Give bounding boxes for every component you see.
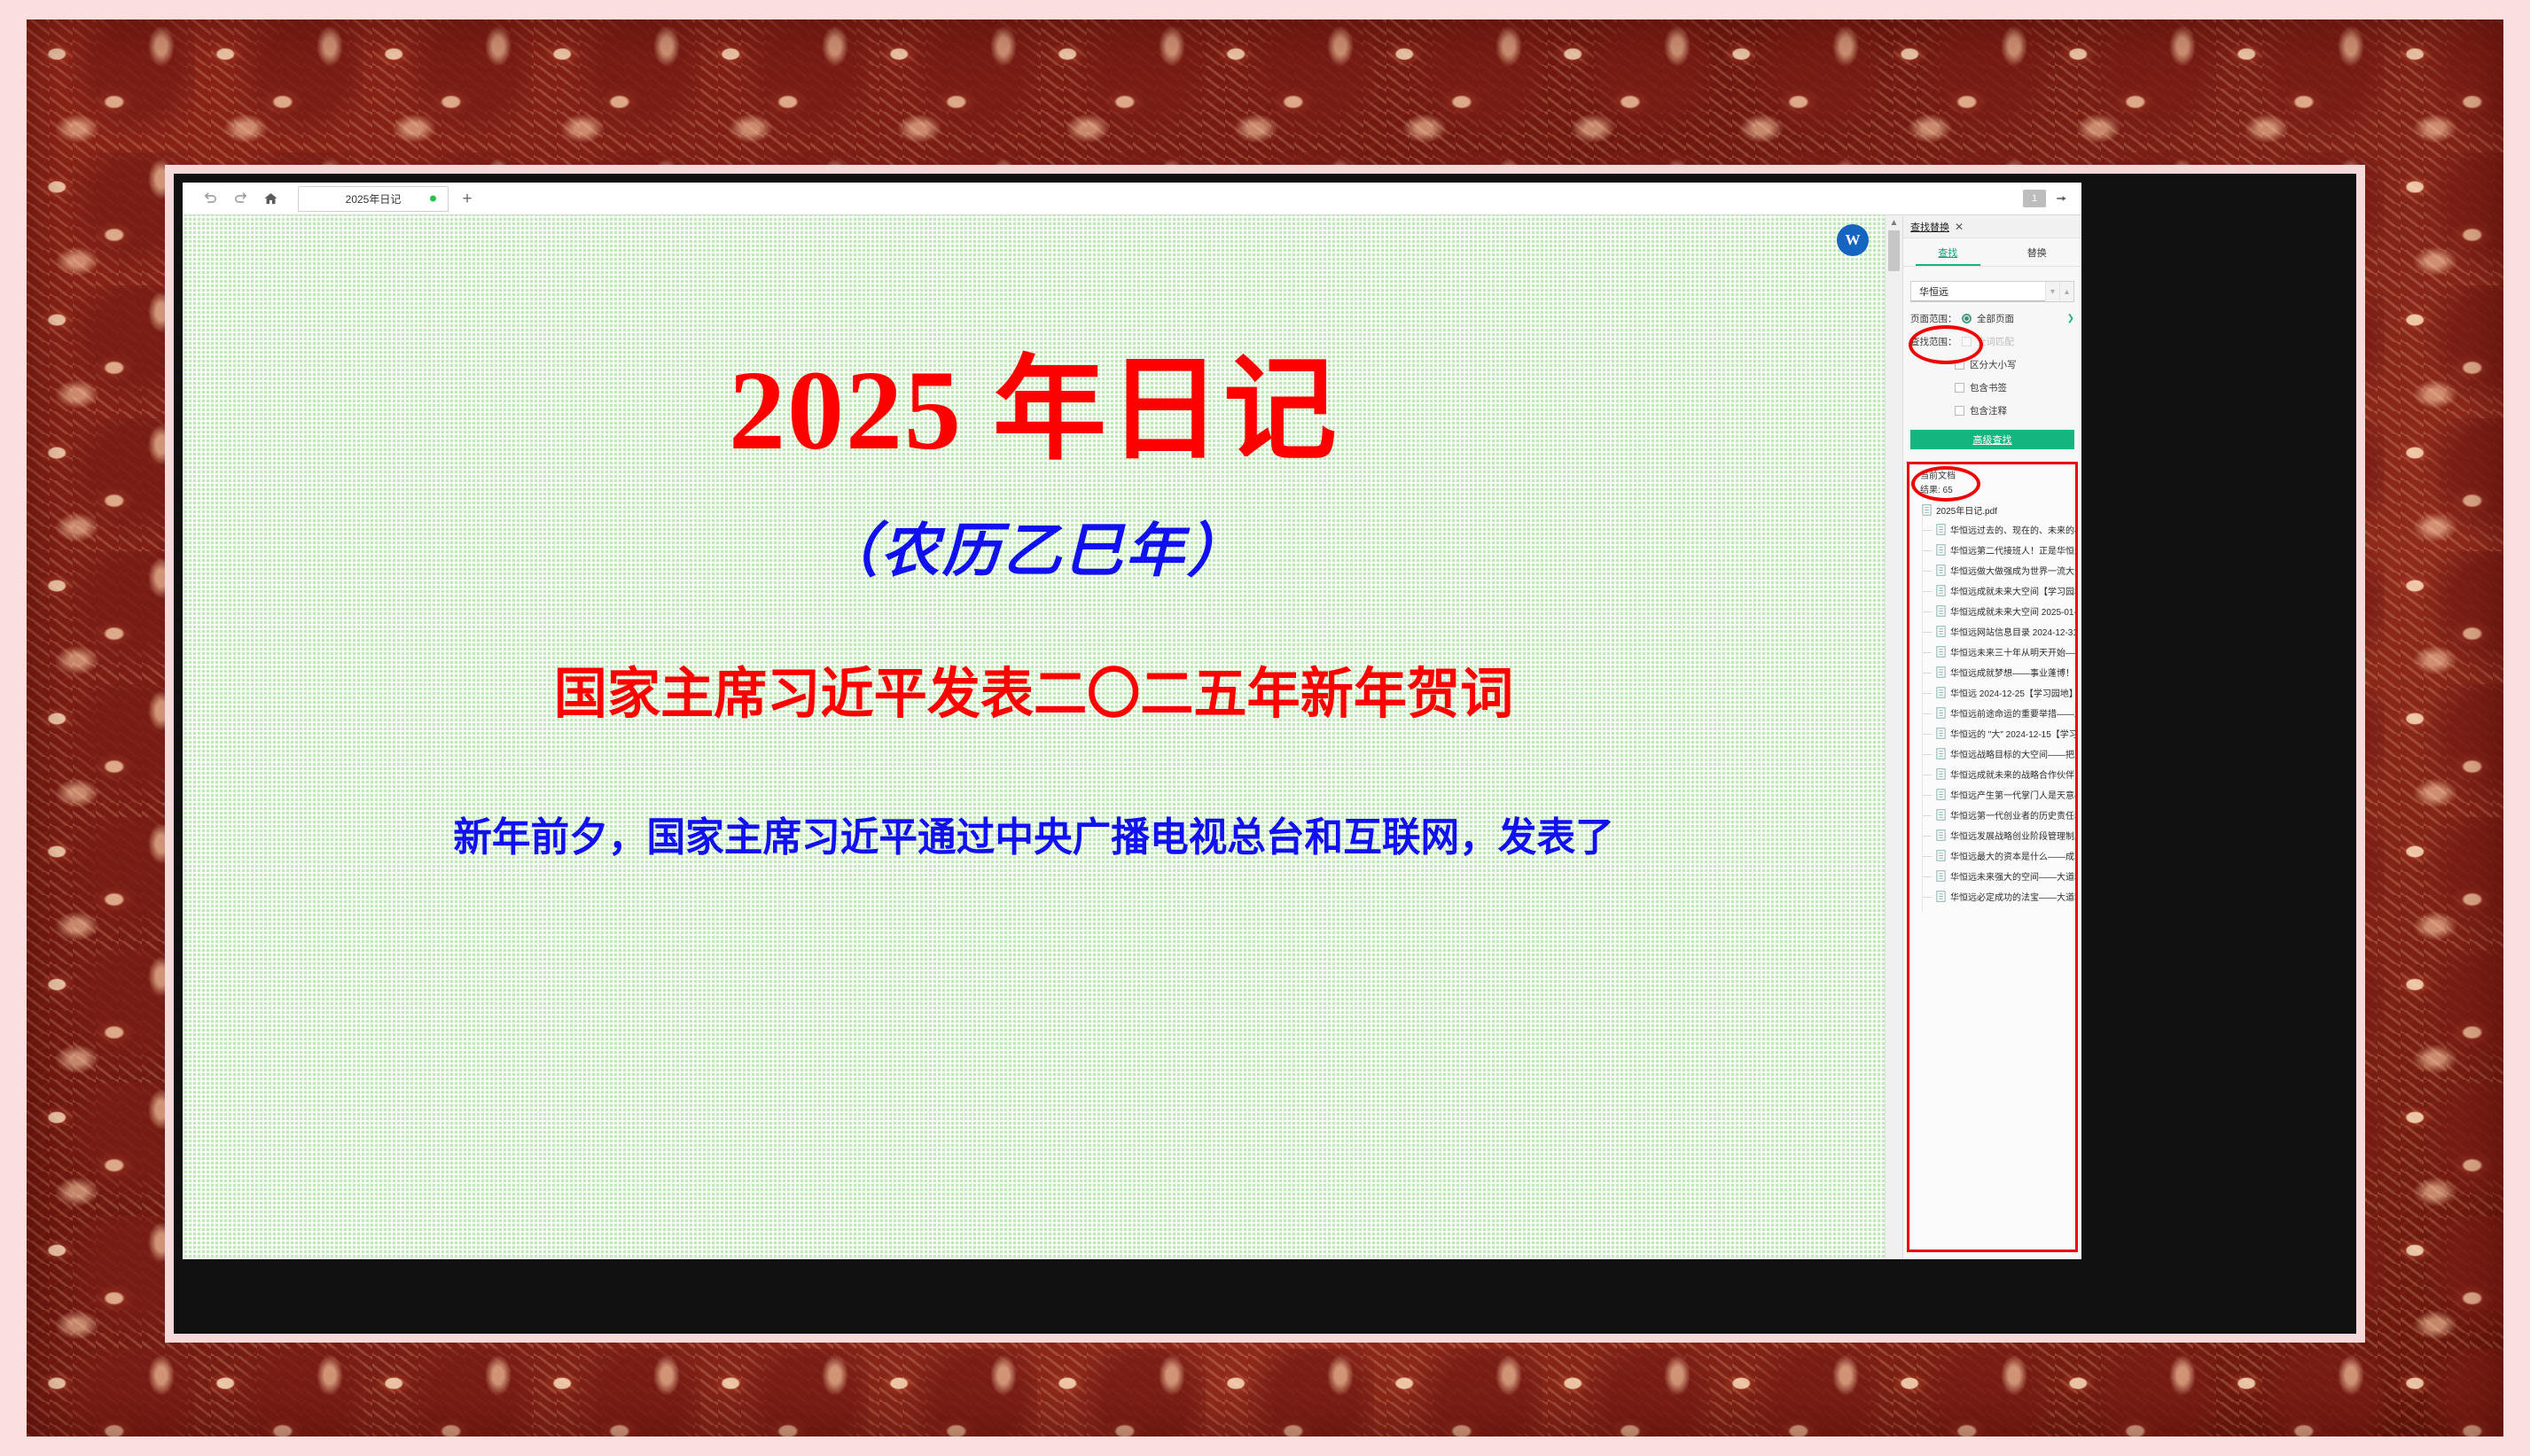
document-icon	[1922, 504, 1932, 516]
result-item[interactable]: 华恒远战略目标的大空间——把未	[1917, 744, 2075, 764]
result-item[interactable]: 华恒远成就未来大空间 2025-01-0	[1917, 601, 2075, 621]
result-item[interactable]: 华恒远成就梦想——事业蓬博！贡	[1917, 662, 2075, 682]
find-replace-panel: 查找替换 ✕ 查找 替换 ▾ ▴ 页面范围： 全部页面 ❯ 查找范围： 全词匹配	[1902, 215, 2081, 1259]
result-item[interactable]: 华恒远前途命运的重要举措——20	[1917, 703, 2075, 723]
document-icon	[1936, 891, 1946, 902]
results-header: 当前文档 结果: 65	[1909, 464, 2075, 499]
include-comments-label: 包含注释	[1970, 404, 2007, 417]
checkbox-include-bookmarks[interactable]	[1955, 383, 1964, 393]
include-comments-row[interactable]: 包含注释	[1955, 404, 2074, 417]
scope-label: 查找范围：	[1910, 335, 1962, 348]
checkbox-match-case[interactable]	[1955, 360, 1964, 370]
document-icon	[1936, 626, 1946, 637]
result-item[interactable]: 华恒远未来三十年从明天开始——	[1917, 642, 2075, 662]
document-icon	[1936, 646, 1946, 658]
result-item-label: 华恒远战略目标的大空间——把未	[1950, 747, 2075, 760]
page-body-text: 新年前夕，国家主席习近平通过中央广播电视总台和互联网，发表了	[453, 805, 1614, 862]
page-range-value: 全部页面	[1977, 312, 2014, 325]
page-title: 2025 年日记	[729, 348, 1339, 473]
chevron-up-icon[interactable]: ▴	[2059, 282, 2073, 301]
result-item-label: 华恒远第二代接班人！正是华恒远	[1950, 543, 2075, 557]
result-item-label: 华恒远成就未来大空间 2025-01-0	[1950, 604, 2075, 618]
result-item-label: 华恒远未来强大的空间——大道和	[1950, 869, 2075, 883]
document-icon	[1936, 564, 1946, 576]
result-item-label: 华恒远成就未来大空间【学习园地】	[1950, 584, 2075, 597]
result-item-label: 华恒远未来三十年从明天开始——	[1950, 645, 2075, 658]
result-item-label: 华恒远成就未来的战略合作伙伴 20	[1950, 767, 2075, 781]
result-item[interactable]: 华恒远 2024-12-25【学习园地】	[1917, 682, 2075, 703]
search-field-row: ▾ ▴	[1910, 281, 2074, 302]
document-icon	[1936, 707, 1946, 719]
result-item[interactable]: 华恒远的 "大" 2024-12-15【学习	[1917, 723, 2075, 744]
panel-tabs: 查找 替换	[1903, 238, 2081, 267]
undo-arrow-icon[interactable]	[195, 185, 225, 212]
scope-whole-word-row: 查找范围： 全词匹配	[1910, 335, 2074, 348]
tab-replace[interactable]: 替换	[1993, 238, 2082, 266]
home-icon[interactable]	[255, 185, 285, 212]
result-item[interactable]: 华恒远成就未来的战略合作伙伴 20	[1917, 764, 2075, 784]
chevron-expand-icon[interactable]: ❯	[2067, 314, 2074, 323]
result-item-label: 华恒远最大的资本是什么——成就	[1950, 849, 2075, 862]
document-icon	[1936, 829, 1946, 841]
result-item-label: 华恒远做大做强成为世界一流大企	[1950, 564, 2075, 577]
pdf-reader-window: 2025年日记 + 1 2025 年日记 （农历乙巳年） 国家主席习近平发表二〇…	[183, 183, 2081, 1259]
panel-title: 查找替换	[1910, 220, 1949, 234]
search-input[interactable]	[1911, 282, 2045, 301]
document-icon	[1936, 585, 1946, 596]
match-case-label: 区分大小写	[1970, 358, 2017, 371]
scrollbar-thumb[interactable]	[1888, 230, 1900, 271]
include-bookmarks-row[interactable]: 包含书签	[1955, 381, 2074, 394]
result-root-label: 2025年日记.pdf	[1936, 503, 1997, 517]
page-range-row: 页面范围： 全部页面 ❯	[1910, 312, 2074, 325]
export-to-word-icon[interactable]: W	[1837, 224, 1869, 256]
result-item-label: 华恒远过去的、现在的、未来的——	[1950, 523, 2075, 536]
document-icon	[1936, 605, 1946, 617]
result-item[interactable]: 华恒远发展战略创业阶段管理制度	[1917, 825, 2075, 845]
page-range-label: 页面范围：	[1910, 312, 1962, 325]
browser-toolbar: 2025年日记 + 1	[183, 183, 2081, 215]
toolbar-right-group: 1	[2023, 190, 2081, 207]
page-indicator[interactable]: 1	[2023, 190, 2046, 207]
document-icon	[1936, 666, 1946, 678]
result-item-label: 华恒远成就梦想——事业蓬博！贡	[1950, 666, 2075, 679]
result-item[interactable]: 华恒远未来强大的空间——大道和	[1917, 866, 2075, 886]
results-count: 结果: 65	[1920, 484, 2075, 498]
document-icon	[1936, 544, 1946, 556]
document-icon	[1936, 524, 1946, 535]
results-scope-title: 当前文档	[1920, 470, 2075, 484]
result-item[interactable]: 华恒远做大做强成为世界一流大企	[1917, 560, 2075, 580]
result-item-label: 华恒远发展战略创业阶段管理制度	[1950, 829, 2075, 842]
close-icon[interactable]: ✕	[1955, 222, 1964, 232]
document-icon	[1936, 687, 1946, 698]
tab-status-dot	[430, 196, 436, 202]
result-item[interactable]: 华恒远最大的资本是什么——成就	[1917, 845, 2075, 866]
checkbox-whole-word	[1962, 337, 1972, 346]
page-subtitle: （农历乙巳年）	[820, 503, 1248, 588]
result-root-node[interactable]: 2025年日记.pdf	[1917, 501, 2075, 519]
result-item[interactable]: 华恒远过去的、现在的、未来的——	[1917, 519, 2075, 540]
scroll-up-icon[interactable]: ▲	[1886, 215, 1902, 230]
result-item-label: 华恒远第一代创业者的历史责任和	[1950, 808, 2075, 821]
document-icon	[1936, 768, 1946, 780]
result-item[interactable]: 华恒远必定成功的法宝——大道和	[1917, 886, 2075, 907]
chevron-down-icon[interactable]: ▾	[2045, 282, 2059, 301]
match-case-row[interactable]: 区分大小写	[1955, 358, 2074, 371]
pin-arrow-icon[interactable]	[2055, 192, 2069, 205]
document-icon	[1936, 850, 1946, 861]
result-item-label: 华恒远的 "大" 2024-12-15【学习	[1950, 727, 2075, 740]
document-viewport[interactable]: 2025 年日记 （农历乙巳年） 国家主席习近平发表二〇二五年新年贺词 新年前夕…	[183, 215, 1885, 1259]
document-page: 2025 年日记 （农历乙巳年） 国家主席习近平发表二〇二五年新年贺词 新年前夕…	[183, 215, 1885, 1259]
document-icon	[1936, 870, 1946, 882]
new-tab-button[interactable]: +	[454, 185, 480, 212]
result-item-label: 华恒远网站信息目录 2024-12-31	[1950, 625, 2075, 638]
include-bookmarks-label: 包含书签	[1970, 381, 2007, 394]
result-item-label: 华恒远产生第一代掌门人是天意—	[1950, 788, 2075, 801]
whole-word-label: 全词匹配	[1977, 335, 2014, 348]
result-item[interactable]: 华恒远网站信息目录 2024-12-31	[1917, 621, 2075, 642]
result-item-label: 华恒远 2024-12-25【学习园地】	[1950, 686, 2075, 699]
document-tab[interactable]: 2025年日记	[298, 186, 449, 212]
tab-find[interactable]: 查找	[1903, 238, 1993, 266]
advanced-search-button[interactable]: 高级查找	[1910, 430, 2074, 449]
document-tab-label: 2025年日记	[346, 191, 402, 206]
results-tree: 2025年日记.pdf 华恒远过去的、现在的、未来的——华恒远第二代接班人！正是…	[1909, 499, 2075, 907]
document-icon	[1936, 728, 1946, 739]
result-item[interactable]: 华恒远第一代创业者的历史责任和	[1917, 805, 2075, 825]
panel-header: 查找替换 ✕	[1903, 215, 2081, 238]
redo-arrow-icon[interactable]	[225, 185, 255, 212]
document-icon	[1936, 789, 1946, 800]
result-item[interactable]: 华恒远第二代接班人！正是华恒远	[1917, 540, 2075, 560]
search-results-container[interactable]: 当前文档 结果: 65 2025年日记.pdf 华恒	[1907, 462, 2078, 1252]
results-list: 华恒远过去的、现在的、未来的——华恒远第二代接班人！正是华恒远华恒远做大做强成为…	[1917, 519, 2075, 907]
document-scrollbar[interactable]: ▲	[1885, 215, 1902, 1259]
document-icon	[1936, 809, 1946, 821]
radio-all-pages[interactable]	[1962, 314, 1972, 323]
document-icon	[1936, 748, 1946, 759]
result-item-label: 华恒远前途命运的重要举措——20	[1950, 706, 2075, 720]
result-item-label: 华恒远必定成功的法宝——大道和	[1950, 890, 2075, 903]
checkbox-include-comments[interactable]	[1955, 406, 1964, 416]
result-item[interactable]: 华恒远产生第一代掌门人是天意—	[1917, 784, 2075, 805]
result-item[interactable]: 华恒远成就未来大空间【学习园地】	[1917, 580, 2075, 601]
page-headline: 国家主席习近平发表二〇二五年新年贺词	[554, 649, 1514, 728]
